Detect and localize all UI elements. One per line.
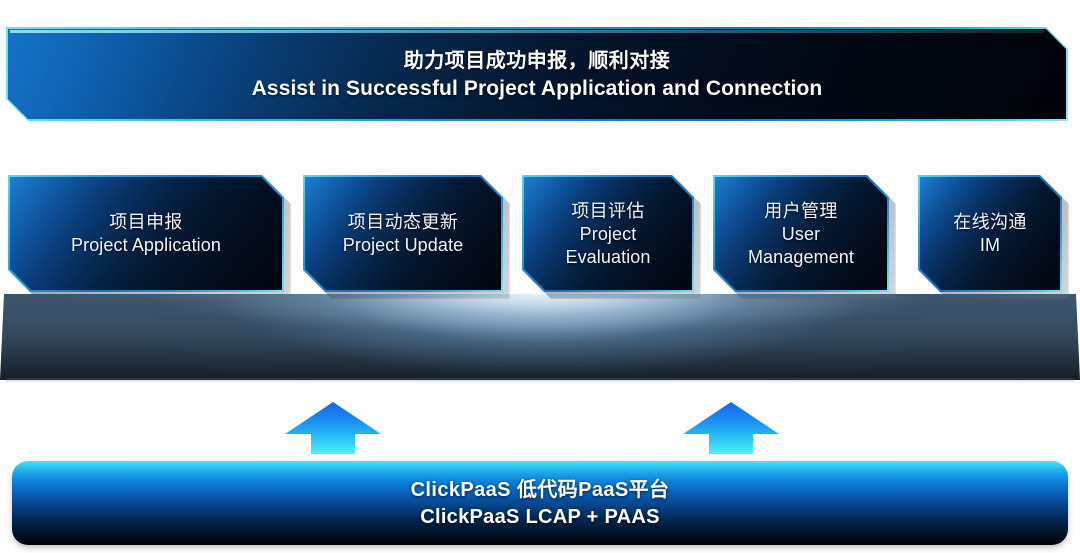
platform-bar-line-cn: ClickPaaS 低代码PaaS平台 xyxy=(12,477,1068,504)
capability-box-project-evaluation[interactable]: 项目评估Project Evaluation xyxy=(522,175,694,292)
capability-label-cn: 项目申报 xyxy=(109,210,183,234)
flow-arrow-right-icon xyxy=(683,402,779,454)
capability-label-cn: 项目评估 xyxy=(571,199,645,223)
capability-label-en: IM xyxy=(980,234,1000,257)
headline-banner-highlight xyxy=(10,30,1044,33)
stage-platform-surface xyxy=(0,294,1080,380)
capability-box-online-im[interactable]: 在线沟通IM xyxy=(918,175,1062,292)
capability-box-label: 项目动态更新Project Update xyxy=(303,175,503,292)
capability-box-label: 在线沟通IM xyxy=(918,175,1062,292)
headline-banner: 助力项目成功申报，顺利对接 Assist in Successful Proje… xyxy=(8,29,1066,119)
headline-line-cn: 助力项目成功申报，顺利对接 xyxy=(8,48,1066,75)
capability-label-en: Project Update xyxy=(343,234,463,257)
capability-box-label: 项目申报Project Application xyxy=(8,175,284,292)
platform-bar-line-en: ClickPaaS LCAP + PAAS xyxy=(12,504,1068,531)
flow-arrow-left-icon xyxy=(285,402,381,454)
capability-box-label: 用户管理User Management xyxy=(713,175,889,292)
capability-label-en: Project Application xyxy=(71,234,221,257)
capability-label-cn: 项目动态更新 xyxy=(348,210,458,234)
capability-box-project-update[interactable]: 项目动态更新Project Update xyxy=(303,175,503,292)
stage-platform-shadow xyxy=(6,378,1074,383)
stage-platform xyxy=(0,294,1080,380)
capability-label-cn: 用户管理 xyxy=(764,199,838,223)
capability-box-project-application[interactable]: 项目申报Project Application xyxy=(8,175,284,292)
capability-box-user-management[interactable]: 用户管理User Management xyxy=(713,175,889,292)
capability-label-cn: 在线沟通 xyxy=(953,210,1027,234)
platform-bar: ClickPaaS 低代码PaaS平台 ClickPaaS LCAP + PAA… xyxy=(12,461,1068,545)
capability-label-en: Project Evaluation xyxy=(536,223,680,269)
capability-box-label: 项目评估Project Evaluation xyxy=(522,175,694,292)
platform-bar-text: ClickPaaS 低代码PaaS平台 ClickPaaS LCAP + PAA… xyxy=(12,477,1068,531)
headline-line-en: Assist in Successful Project Application… xyxy=(8,75,1066,103)
headline-banner-text: 助力项目成功申报，顺利对接 Assist in Successful Proje… xyxy=(8,48,1066,103)
capability-label-en: User Management xyxy=(727,223,875,269)
